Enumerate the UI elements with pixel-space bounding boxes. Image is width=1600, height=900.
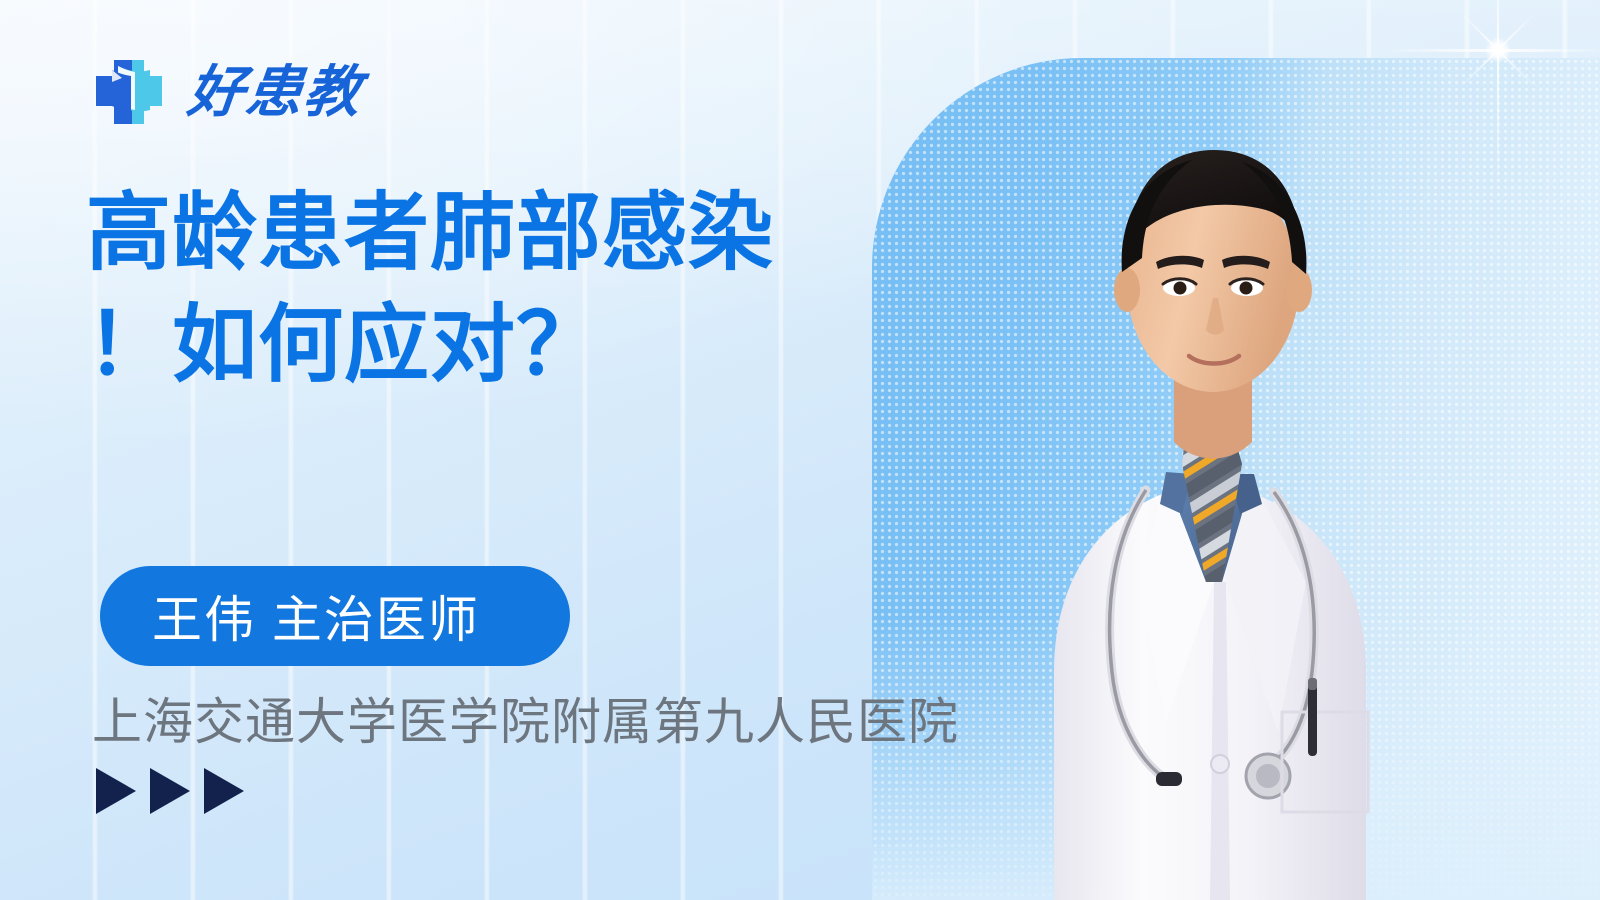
page-title-line-1: 高龄患者肺部感染: [86, 178, 906, 290]
brand-logo[interactable]: 好患教: [88, 52, 362, 132]
poster-canvas: 好患教 高龄患者肺部感染 ！如何应对？ 王伟 主治医师 上海交通大学医学院附属第…: [0, 0, 1600, 900]
page-title: 高龄患者肺部感染 ！如何应对？: [86, 178, 906, 402]
doctor-portrait: [930, 112, 1490, 900]
speaker-badge: 王伟 主治医师: [100, 566, 570, 666]
page-title-line-2: ！如何应对？: [86, 290, 906, 402]
medical-cross-book-icon: [88, 52, 170, 132]
hospital-name: 上海交通大学医学院附属第九人民医院: [92, 682, 959, 754]
brand-name: 好患教: [185, 64, 365, 120]
pen-icon: [1308, 684, 1317, 756]
play-triangle-icon: [150, 768, 190, 814]
speaker-badge-label: 王伟 主治医师: [152, 580, 480, 652]
arrow-decoration-group: [96, 768, 244, 814]
play-triangle-icon: [96, 768, 136, 814]
play-triangle-icon: [204, 768, 244, 814]
